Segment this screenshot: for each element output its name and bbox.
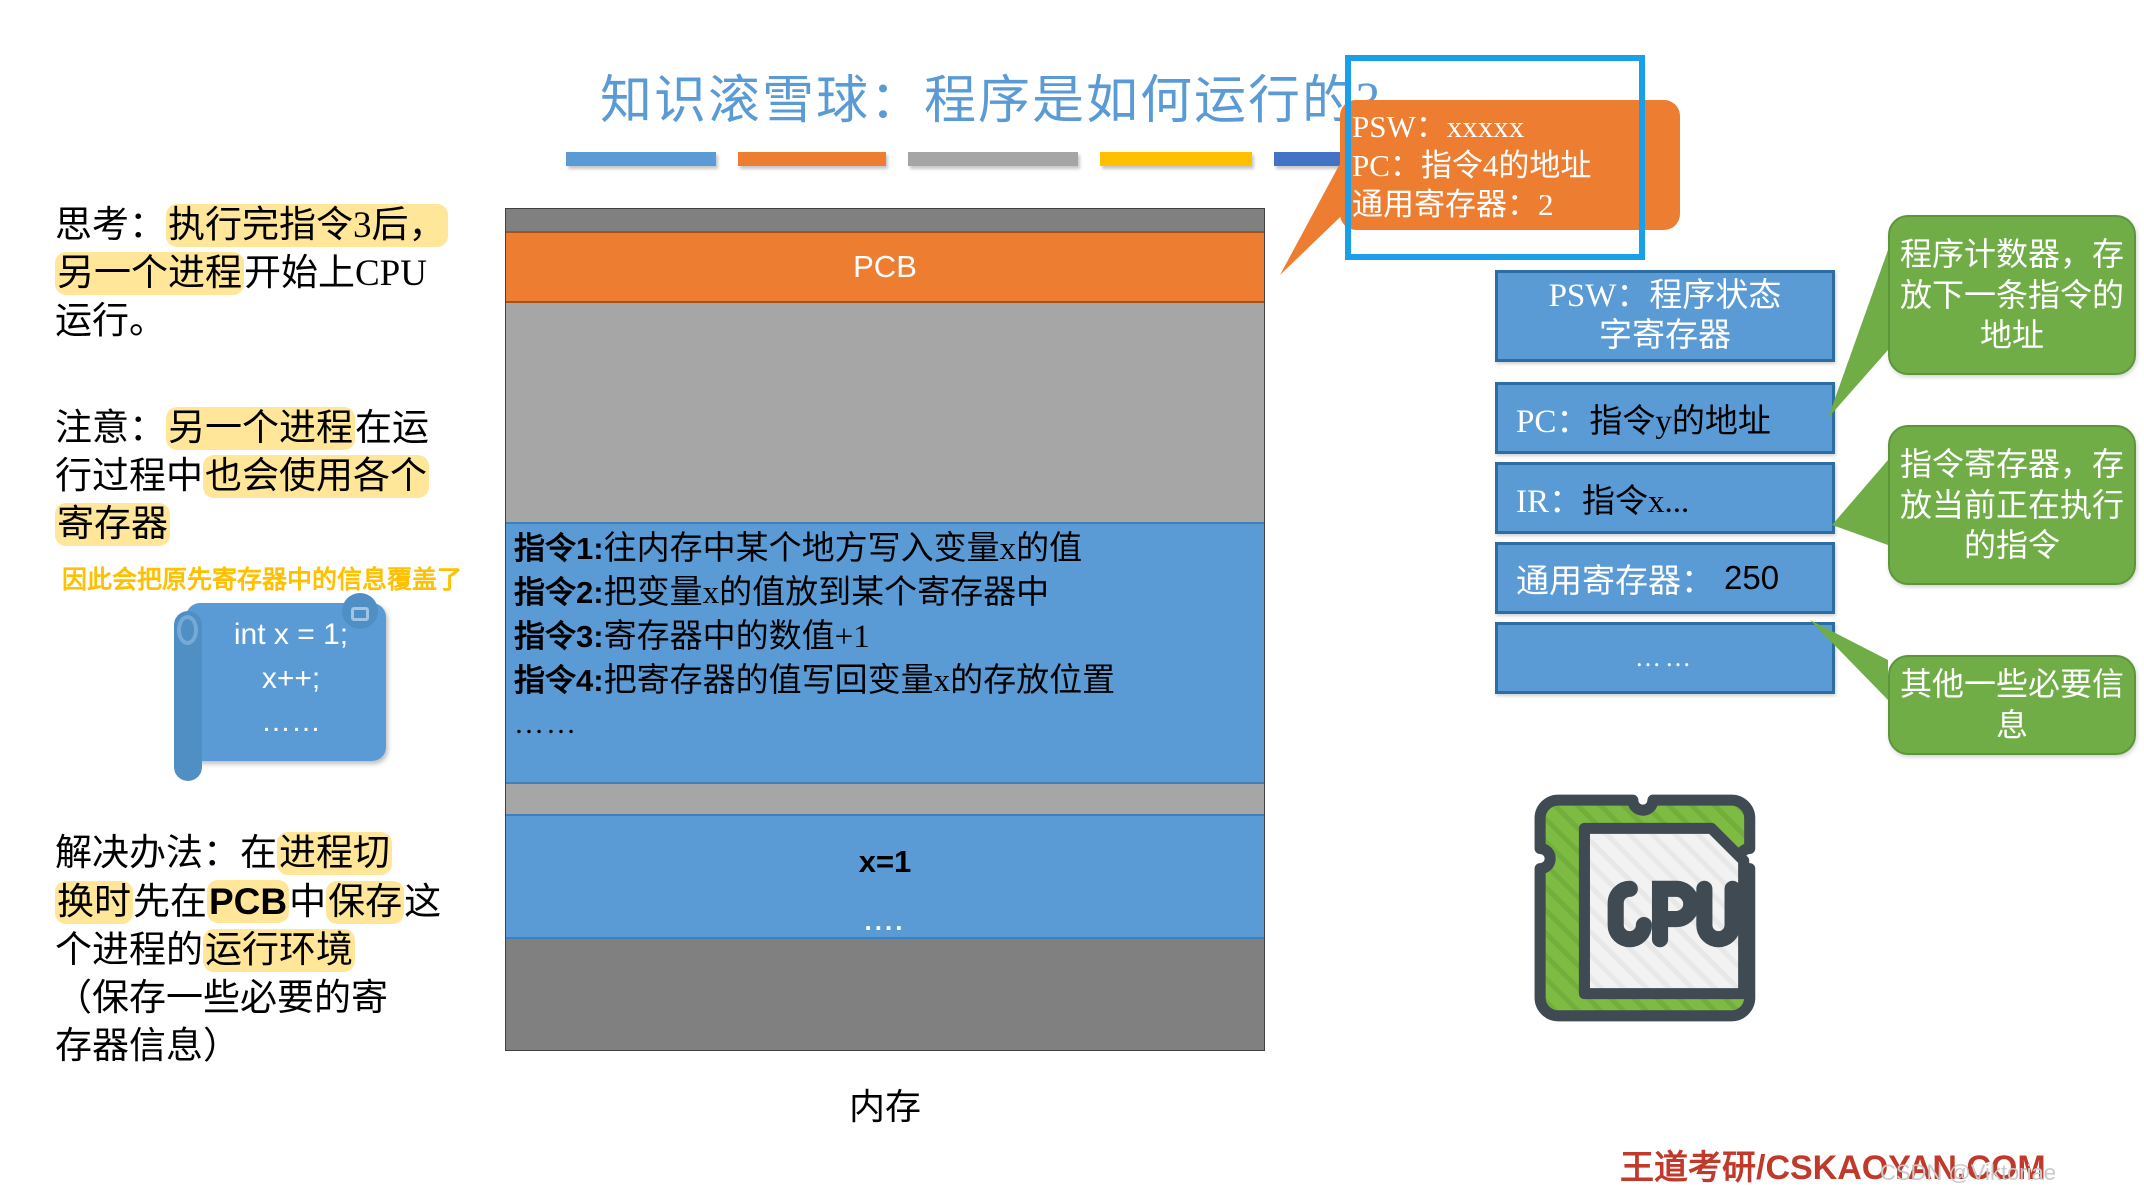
code-line-2: x++; [206,657,376,701]
instruction-row: 指令4:把寄存器的值写回变量x的存放位置 [514,660,1264,704]
callout-pc-description: 程序计数器，存放下一条指令的地址 [1888,215,2136,375]
note-solution-hl1: 进程切 [277,832,392,875]
register-psw-label: PSW：程序状态 字寄存器 [1549,276,1782,357]
note-solution: 解决办法：在进程切 换时先在PCB中保存这 个进程的运行环境 （保存一些必要的寄… [55,830,475,1071]
instruction-text: 把变量x的值放到某个寄存器中 [604,575,1050,611]
title-bar-2 [738,152,886,166]
instruction-text: 寄存器中的数值+1 [604,619,870,655]
instruction-list: 指令1:往内存中某个地方写入变量x的值 指令2:把变量x的值放到某个寄存器中 指… [506,524,1264,743]
note-solution-t1: 在 [240,833,277,874]
callout-pc-text: 程序计数器，存放下一条指令的地址 [1890,234,2134,357]
memory-data-value-wrap: x=1 .... [506,816,1264,937]
instruction-num: 指令4: [514,663,604,698]
memory-data-value: x=1 [859,844,912,879]
callout-ir-description: 指令寄存器，存放当前正在执行的指令 [1888,425,2136,585]
tail-pc-desc [1828,250,1888,418]
memory-segment-data: x=1 .... [506,814,1264,939]
instruction-text: 把寄存器的值写回变量x的存放位置 [604,663,1116,699]
memory-data-more: .... [506,880,1264,937]
memory-segment-gap [506,784,1264,814]
scroll-code-text: int x = 1; x++; …… [206,613,376,744]
note-attention-lead: 注意： [55,408,166,449]
title-bar-1 [566,152,716,166]
title-bar-4 [1100,152,1252,166]
title-bar-3 [908,152,1078,166]
memory-column: PCB 指令1:往内存中某个地方写入变量x的值 指令2:把变量x的值放到某个寄存… [505,208,1265,1051]
scroll-roll-left-icon [174,611,202,781]
instruction-row: 指令1:往内存中某个地方写入变量x的值 [514,528,1264,572]
memory-segment-free-top [506,209,1264,231]
register-general-purpose[interactable]: 通用寄存器： 250 [1495,542,1835,614]
note-solution-t4: 这 [404,882,441,923]
callout-ir-text: 指令寄存器，存放当前正在执行的指令 [1890,444,2134,567]
code-line-1: int x = 1; [206,613,376,657]
instruction-num: 指令3: [514,619,604,654]
pcb-label: PCB [853,249,917,285]
note-solution-lead: 解决办法： [55,833,240,874]
note-think-hl1: 执行完指令3后， [166,204,448,247]
note-attention-mid1: 在运 [355,408,429,449]
memory-segment-pcb[interactable]: PCB [506,231,1264,303]
note-think: 思考：执行完指令3后， 另一个进程开始上CPU 运行。 [55,202,475,346]
cpu-chip-icon [1528,782,1786,1040]
note-overwrite: 因此会把原先寄存器中的信息覆盖了 [62,560,462,596]
code-line-3: …… [206,700,376,744]
register-ir-value: 指令x... [1582,474,1689,522]
slide-canvas: 知识滚雪球：程序是如何运行的? 思考：执行完指令3后， 另一个进程开始上CPU … [0,0,2144,1200]
title-accent-bars [566,152,1394,166]
instruction-num: 指令2: [514,575,604,610]
note-attention-hl1: 另一个进程 [166,407,355,450]
instruction-num: 指令1: [514,531,604,566]
csdn-watermark: CSDN @Viktoriae [1880,1160,2056,1186]
register-ir[interactable]: IR： 指令x... [1495,462,1835,534]
tail-ir-desc [1832,460,1888,545]
note-solution-t5: 个进程的 [55,930,203,971]
instruction-row: 指令3:寄存器中的数值+1 [514,616,1264,660]
register-gp-label: 通用寄存器： [1516,554,1714,602]
register-ir-label: IR： [1516,474,1582,522]
note-think-rest1: 开始上CPU [244,253,427,294]
note-attention: 注意：另一个进程在运 行过程中也会使用各个 寄存器 [55,405,475,549]
memory-segment-free-mid [506,303,1264,522]
callout-etc-text: 其他一些必要信息 [1890,664,2134,746]
callout-etc-description: 其他一些必要信息 [1888,655,2136,755]
note-solution-t2: 先在 [133,882,207,923]
highlight-frame [1345,55,1645,260]
note-solution-t3: 中 [289,882,326,923]
register-gp-value: 250 [1714,559,1779,597]
register-pc[interactable]: PC： 指令y的地址 [1495,382,1835,454]
register-pc-value: 指令y的地址 [1589,394,1771,442]
code-scroll: int x = 1; x++; …… [160,595,395,780]
note-solution-t6: （保存一些必要的寄 [55,978,388,1019]
note-attention-hl3: 寄存器 [55,503,170,546]
note-solution-hl4: 保存 [326,881,404,924]
memory-label: 内存 [505,1078,1265,1130]
register-psw[interactable]: PSW：程序状态 字寄存器 [1495,270,1835,362]
note-think-lead: 思考： [55,205,166,246]
note-think-rest2: 运行。 [55,301,166,342]
memory-segment-free-bottom [506,939,1264,1050]
note-attention-hl2: 也会使用各个 [203,455,429,498]
note-attention-mid2: 行过程中 [55,456,203,497]
register-others[interactable]: …… [1495,622,1835,694]
instruction-row: 指令2:把变量x的值放到某个寄存器中 [514,572,1264,616]
register-pc-label: PC： [1516,394,1589,442]
instruction-text: 往内存中某个地方写入变量x的值 [604,531,1083,567]
memory-segment-code: 指令1:往内存中某个地方写入变量x的值 指令2:把变量x的值放到某个寄存器中 指… [506,522,1264,784]
register-others-label: …… [1635,643,1695,673]
note-think-hl2: 另一个进程 [55,252,244,295]
instruction-more: …… [514,704,1264,744]
note-solution-hl3: PCB [207,880,289,923]
note-solution-hl2: 换时 [55,881,133,924]
note-solution-t7: 存器信息） [55,1026,240,1067]
note-solution-hl5: 运行环境 [203,929,355,972]
